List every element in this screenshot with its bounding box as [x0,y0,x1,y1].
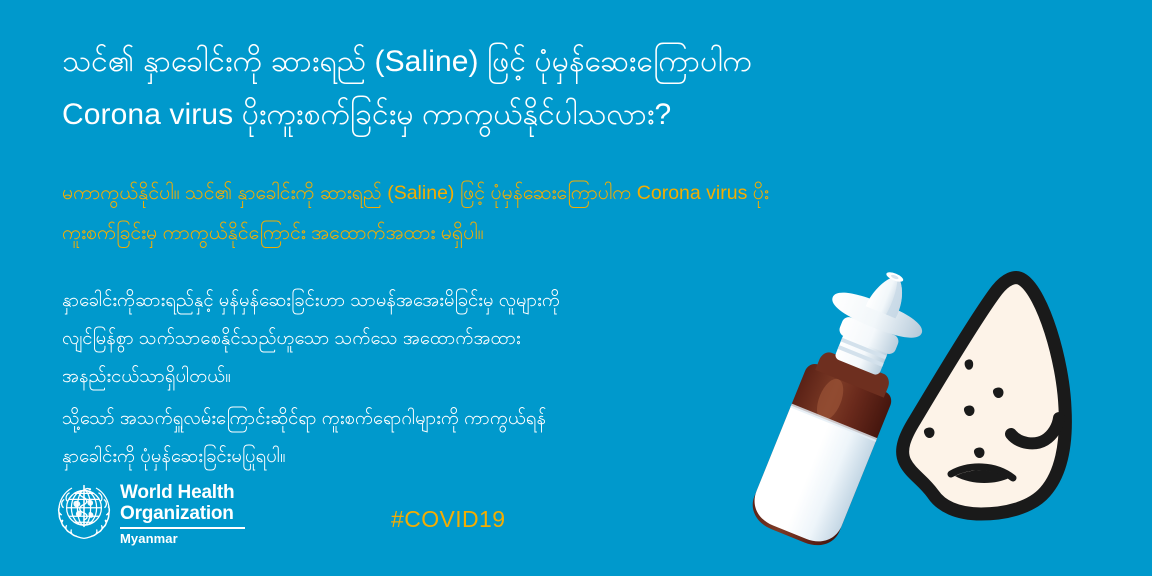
who-logo-lockup: World Health Organization Myanmar [54,482,245,544]
who-wordmark-line-2: Organization [120,504,245,525]
who-wordmark-line-1: World Health [120,483,245,504]
who-divider-rule [120,527,245,529]
body-para1-line-1: နှာခေါင်းကိုဆားရည်နှင့် မှန်မှန်ဆေးခြင်း… [62,281,822,319]
who-wordmark: World Health Organization Myanmar [120,482,245,546]
answer-statement: မကာကွယ်နိုင်ပါ။ သင်၏ နှာခေါင်းကို ဆားရည်… [62,174,1042,254]
cartoon-nose-illustration [885,268,1095,538]
hashtag-label: #COVID19 [391,506,505,533]
body-copy: နှာခေါင်းကိုဆားရည်နှင့် မှန်မှန်ဆေးခြင်း… [62,281,822,476]
body-para2-line-1: သို့သော် အသက်ရှူလမ်းကြောင်းဆိုင်ရာ ကူးစက… [62,399,822,437]
who-emblem-icon [54,482,114,542]
covid-infographic-poster: သင်၏ နှာခေါင်းကို ဆားရည် (Saline) ဖြင့် … [0,0,1152,576]
body-para1-line-3: အနည်းငယ်သာရှိပါတယ်။ [62,357,822,395]
body-para2-line-2: နှာခေါင်းကို ပုံမှန်ဆေးခြင်းမပြုရပါ။ [62,437,822,475]
headline-line-2: Corona virus ပိုးကူးစက်ခြင်းမှ ကာကွယ်နို… [62,89,1012,142]
page-title: သင်၏ နှာခေါင်းကို ဆားရည် (Saline) ဖြင့် … [62,36,1012,141]
body-para1-line-2: လျင်မြန်စွာ သက်သာစေနိုင်သည်ဟူသော သက်သေ အ… [62,319,822,357]
answer-line-2: ကူးစက်ခြင်းမှ ကာကွယ်နိုင်ကြောင်း အထောက်အ… [62,214,1042,254]
who-country-label: Myanmar [120,532,245,546]
answer-line-1: မကာကွယ်နိုင်ပါ။ သင်၏ နှာခေါင်းကို ဆားရည်… [62,174,1042,214]
headline-line-1: သင်၏ နှာခေါင်းကို ဆားရည် (Saline) ဖြင့် … [62,36,1012,89]
